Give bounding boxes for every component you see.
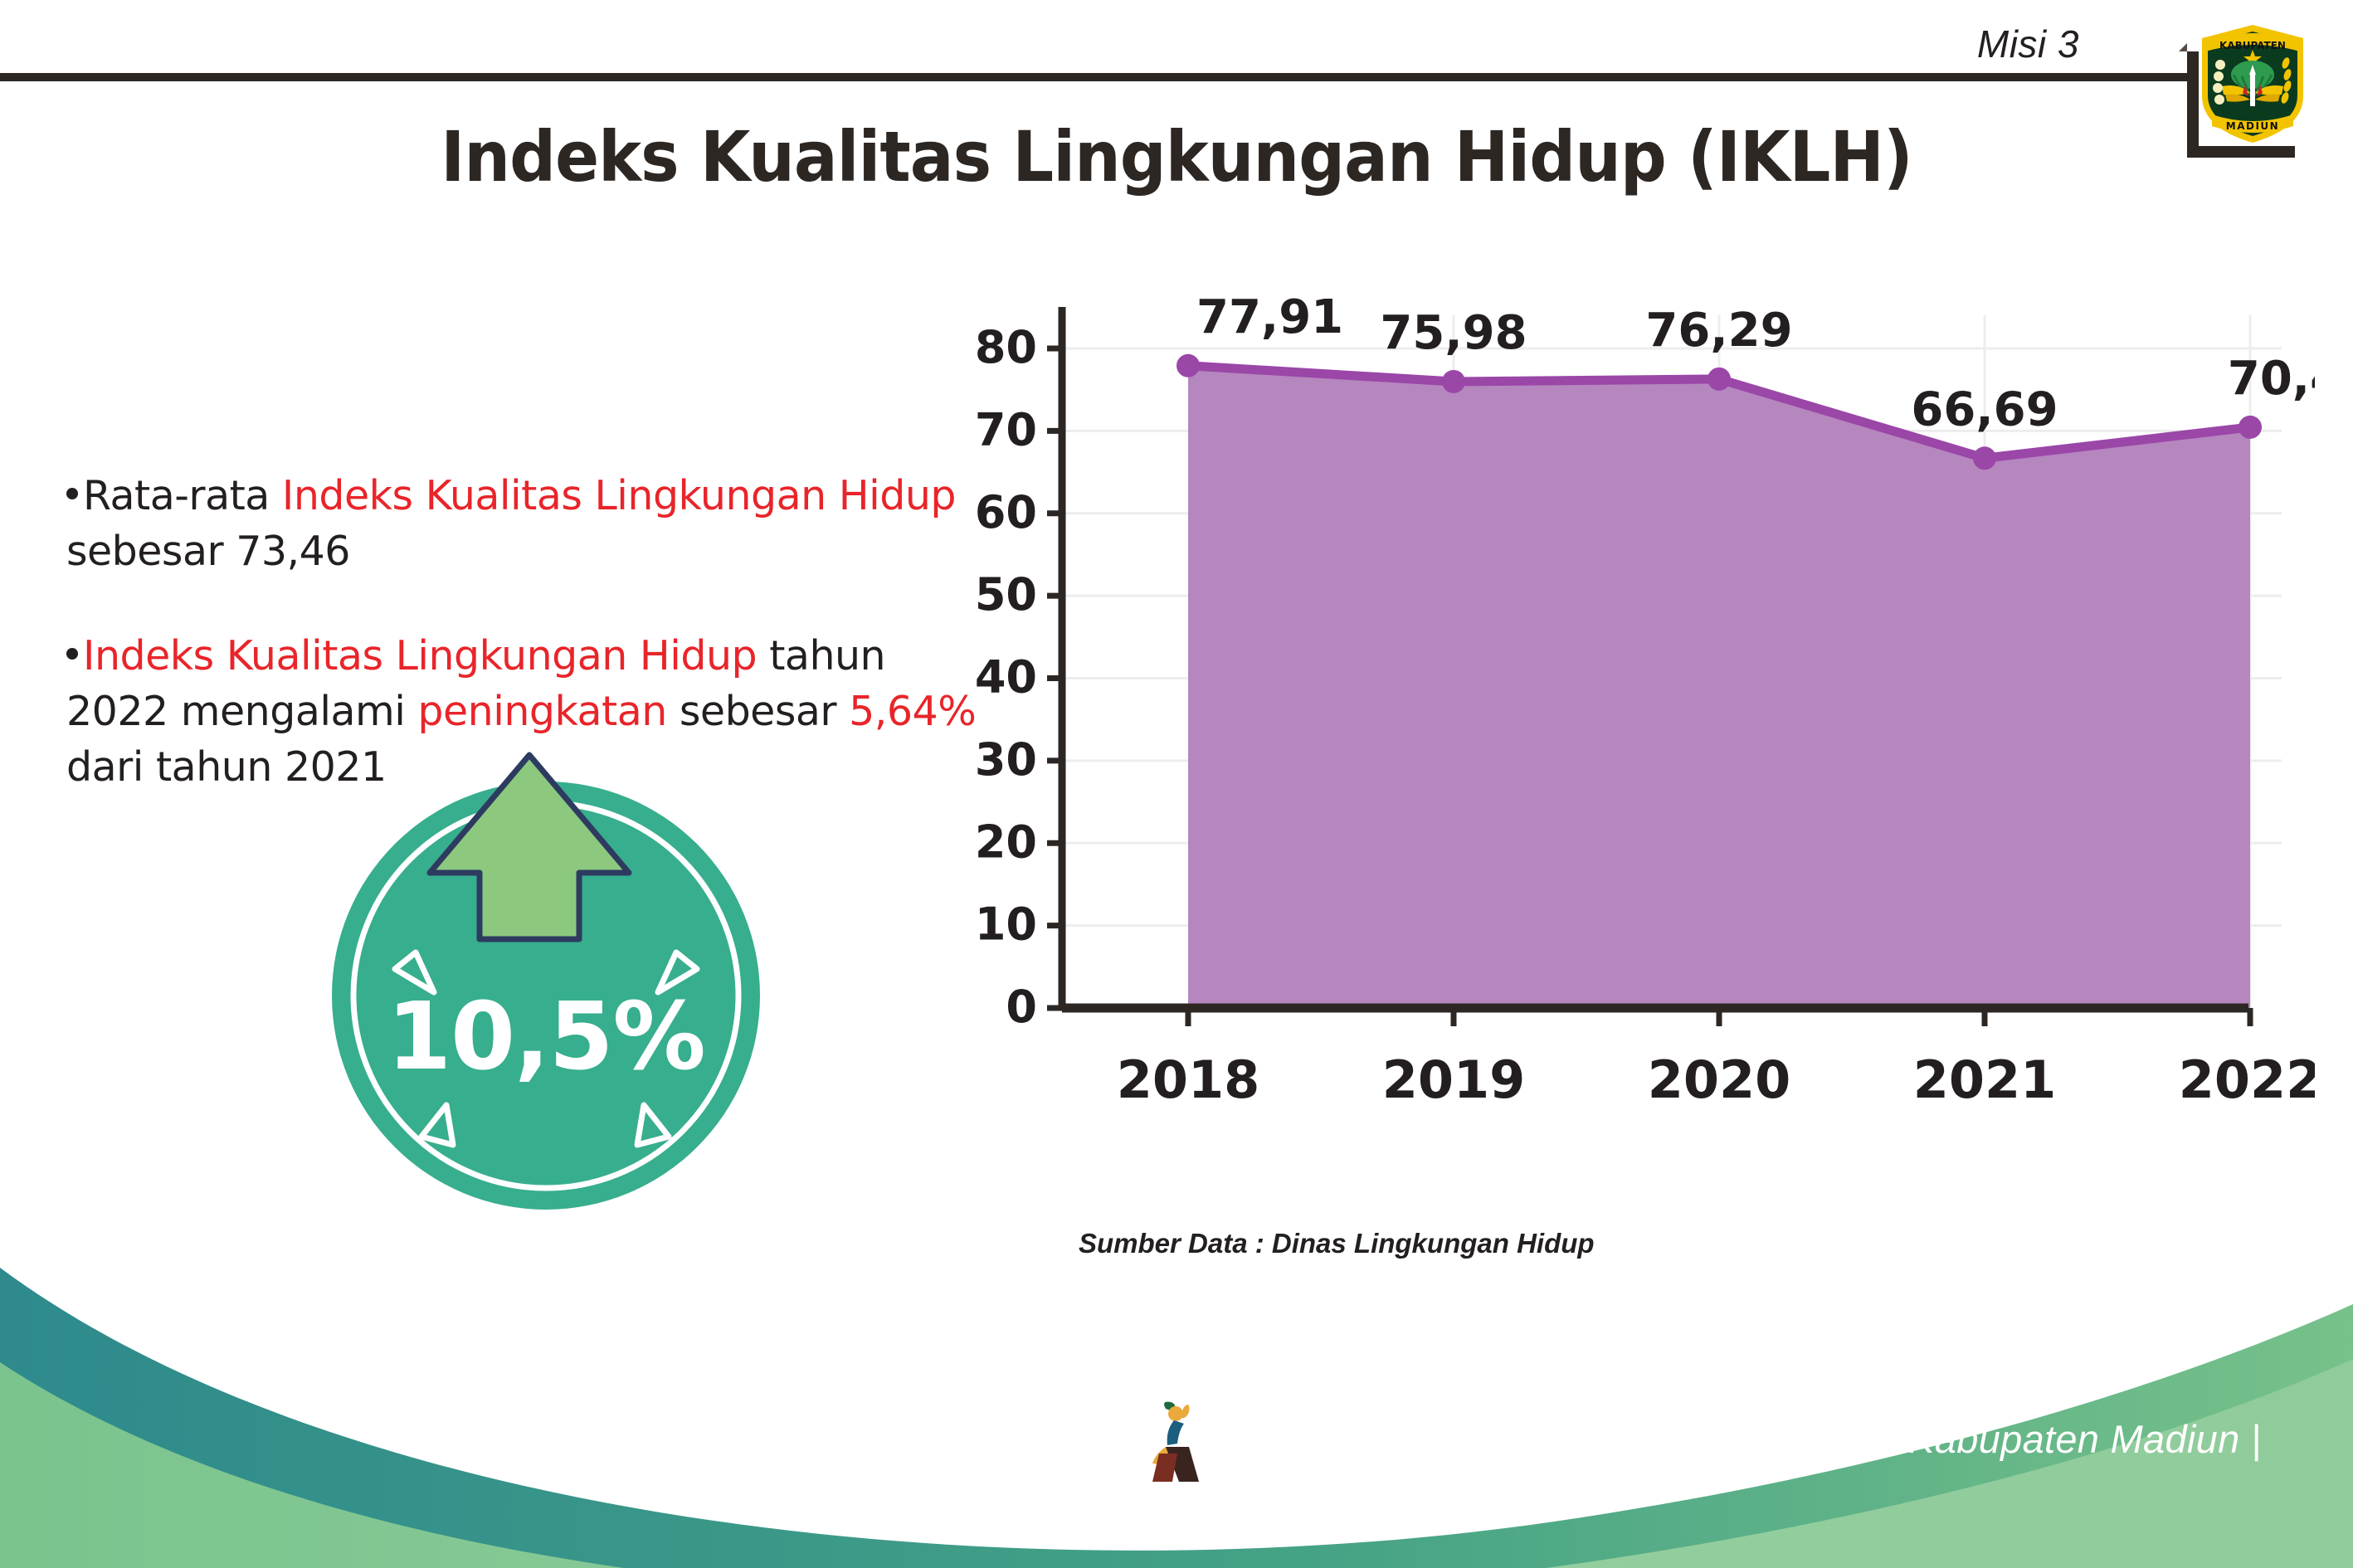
svg-text:30: 30	[975, 733, 1037, 786]
svg-text:76,29: 76,29	[1645, 304, 1792, 358]
svg-text:2022: 2022	[2179, 1049, 2315, 1110]
svg-text:66,69: 66,69	[1911, 382, 2058, 436]
infographic-slide: Misi 3 KABUPATEN	[0, 0, 2353, 1568]
increase-badge: 10,5%	[330, 747, 762, 1211]
bullet-text-1: Rata-rata Indeks Kualitas Lingkungan Hid…	[66, 472, 956, 575]
svg-text:77,91: 77,91	[1196, 290, 1343, 344]
bullet-highlight: Indeks Kualitas Lingkungan Hidup	[83, 632, 757, 679]
svg-text:70: 70	[975, 403, 1037, 455]
footer-banner: Media Infografis Data Statistik Sektoral…	[0, 1253, 2353, 1568]
header-divider	[0, 73, 2190, 81]
misi-label: Misi 3	[1977, 22, 2079, 66]
svg-text:2018: 2018	[1117, 1049, 1260, 1110]
statistik-logo-icon	[1141, 1395, 1215, 1487]
bullet-dot-icon	[66, 648, 78, 660]
bullet-dot-icon	[66, 488, 78, 499]
bullet-highlight: peningkatan	[417, 688, 666, 735]
footer-text: Media Infografis Data Statistik Sektoral…	[1215, 1416, 2261, 1462]
iklh-area-chart: 010203040506070802018201920202021202277,…	[954, 274, 2315, 1203]
bullet-highlight: Indeks Kualitas Lingkungan Hidup	[282, 472, 956, 519]
svg-text:60: 60	[975, 486, 1037, 538]
bullet-plain: sebesar 73,46	[66, 528, 350, 575]
page-title: Indeks Kualitas Lingkungan Hidup (IKLH)	[82, 116, 2270, 197]
svg-text:20: 20	[975, 816, 1037, 868]
svg-text:70,45: 70,45	[2228, 352, 2315, 406]
svg-text:75,98: 75,98	[1380, 306, 1527, 360]
bullet-plain: Rata-rata	[83, 472, 282, 519]
list-item: Rata-rata Indeks Kualitas Lingkungan Hid…	[66, 469, 979, 579]
badge-value: 10,5%	[330, 983, 762, 1091]
svg-text:2019: 2019	[1382, 1049, 1526, 1110]
svg-text:0: 0	[1006, 981, 1037, 1033]
bullet-plain: sebesar	[667, 688, 849, 735]
svg-text:KABUPATEN: KABUPATEN	[2219, 40, 2286, 51]
svg-text:2021: 2021	[1913, 1049, 2057, 1110]
svg-text:2020: 2020	[1648, 1049, 1791, 1110]
svg-text:80: 80	[975, 321, 1037, 373]
svg-text:50: 50	[975, 568, 1037, 621]
svg-text:40: 40	[975, 651, 1037, 704]
svg-text:10: 10	[975, 898, 1037, 951]
